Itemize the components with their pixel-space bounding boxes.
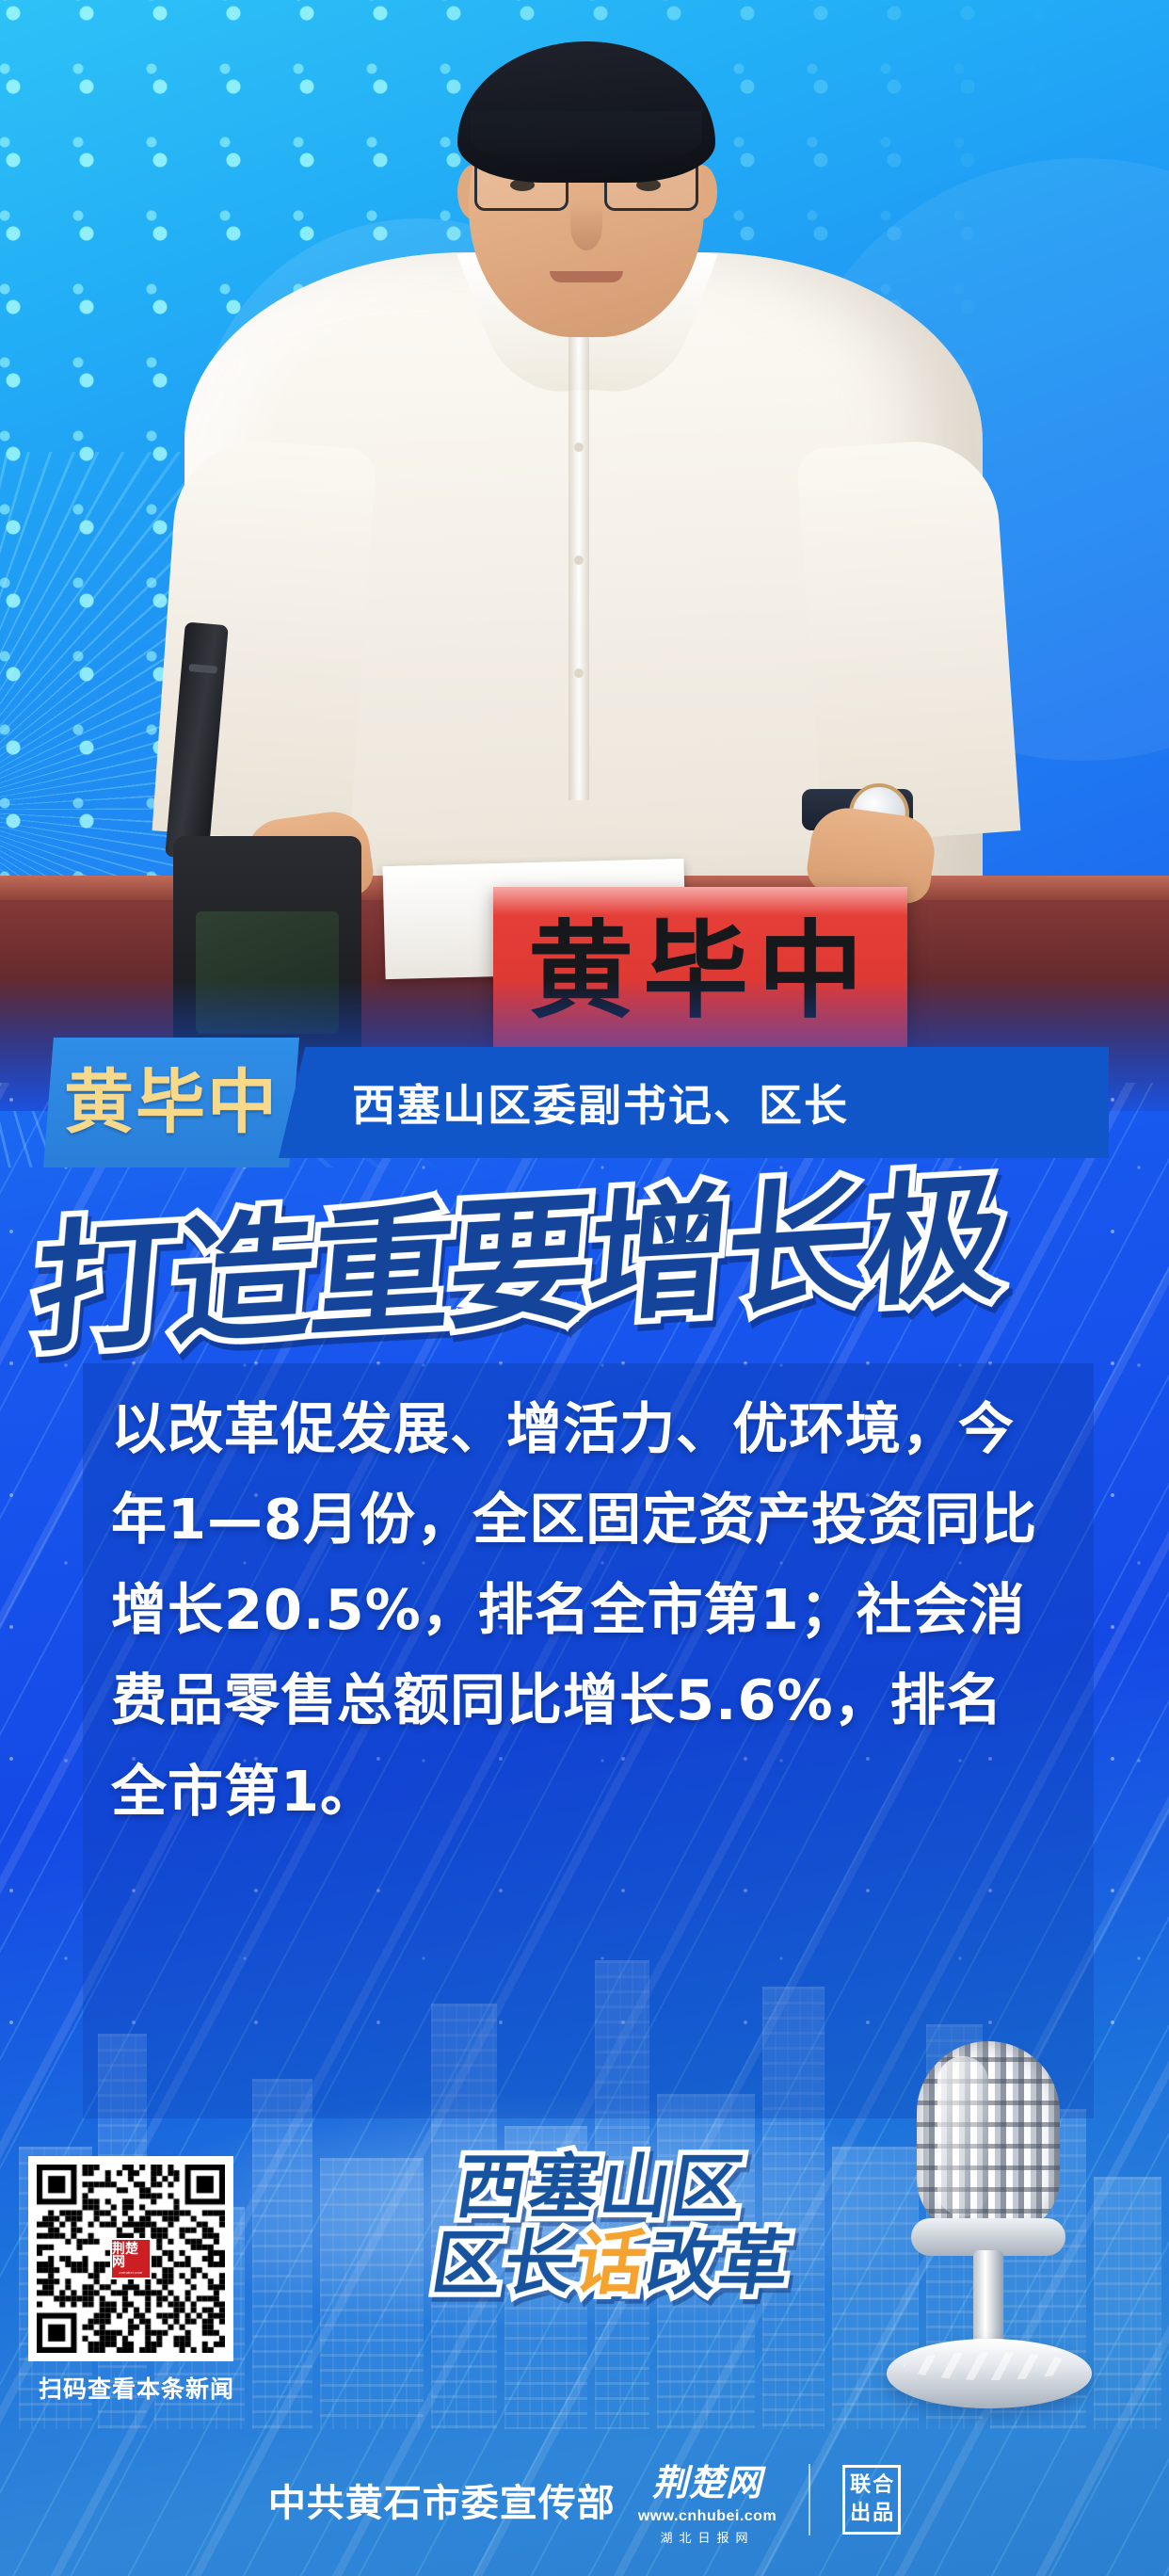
microphone-head — [917, 2041, 1060, 2235]
photo-mouth — [550, 271, 623, 282]
footer-credits: 中共黄石市委宣传部 荆楚网 www.cnhubei.com 湖北日报网 联 合 … — [0, 2448, 1169, 2552]
poster-root: 黄毕中 黄毕中 西塞山区委副书记、区长 — [0, 0, 1169, 2576]
seal-char: 品 — [872, 2503, 894, 2524]
microphone-icon — [881, 2041, 1097, 2408]
program-logo-lockup: 西塞山区 区长话改革 — [457, 2152, 862, 2300]
lockup-line2-highlight: 话 — [569, 2223, 654, 2304]
footer-brand-sub: 湖北日报网 — [660, 2528, 754, 2546]
qr-block[interactable]: 荆楚网 cnhubei.com 扫码查看本条新闻 — [28, 2156, 264, 2405]
seal-char: 合 — [872, 2474, 894, 2496]
footer-brand-name: 荆楚网 — [652, 2454, 762, 2505]
footer-brand: 荆楚网 www.cnhubei.com 湖北日报网 — [638, 2454, 777, 2546]
photo-shirt-button — [574, 668, 584, 678]
quote-text: 以改革促发展、增活力、优环境，今年1—8月份，全区固定资产投资同比增长20.5%… — [111, 1384, 1052, 1837]
qr-logo-text: 荆楚网 — [112, 2243, 150, 2269]
seal-icon: 联 合 出 品 — [842, 2465, 901, 2535]
interview-photo: 黄毕中 — [0, 0, 1169, 1111]
footer-divider — [809, 2464, 810, 2536]
qr-center-logo: 荆楚网 cnhubei.com — [110, 2238, 152, 2279]
lockup-line-2: 区长话改革 — [427, 2229, 868, 2299]
headline-text: 打造重要增长极 — [28, 1167, 1008, 1361]
footer-brand-url: www.cnhubei.com — [638, 2508, 777, 2525]
seal-char: 联 — [849, 2474, 872, 2496]
photo-shirt-button — [574, 443, 584, 452]
microphone-base — [887, 2339, 1092, 2408]
qr-code-icon[interactable]: 荆楚网 cnhubei.com — [28, 2156, 233, 2361]
person-name-banner: 黄毕中 西塞山区委副书记、区长 — [43, 1047, 1109, 1158]
photo-shirt-button — [574, 555, 584, 565]
photo-arm-right — [796, 436, 1021, 845]
person-title: 西塞山区委副书记、区长 — [352, 1071, 849, 1134]
lockup-line2-suffix: 改革 — [641, 2223, 797, 2304]
person-name-chip: 黄毕中 — [43, 1038, 299, 1167]
photo-hair — [457, 41, 715, 183]
person-title-bar: 西塞山区委副书记、区长 — [279, 1047, 1109, 1158]
qr-caption: 扫码查看本条新闻 — [28, 2371, 245, 2405]
headline-calligraphy: 打造重要增长极 — [38, 1179, 1129, 1348]
lockup-line-1: 西塞山区 — [452, 2152, 868, 2223]
nameplate-glare — [493, 887, 907, 915]
seal-char: 出 — [849, 2503, 872, 2524]
qr-logo-url: cnhubei.com — [120, 2271, 143, 2275]
footer-department: 中共黄石市委宣传部 — [268, 2472, 616, 2527]
lockup-line2-prefix: 区长 — [426, 2223, 583, 2304]
person-name: 黄毕中 — [64, 1068, 279, 1137]
